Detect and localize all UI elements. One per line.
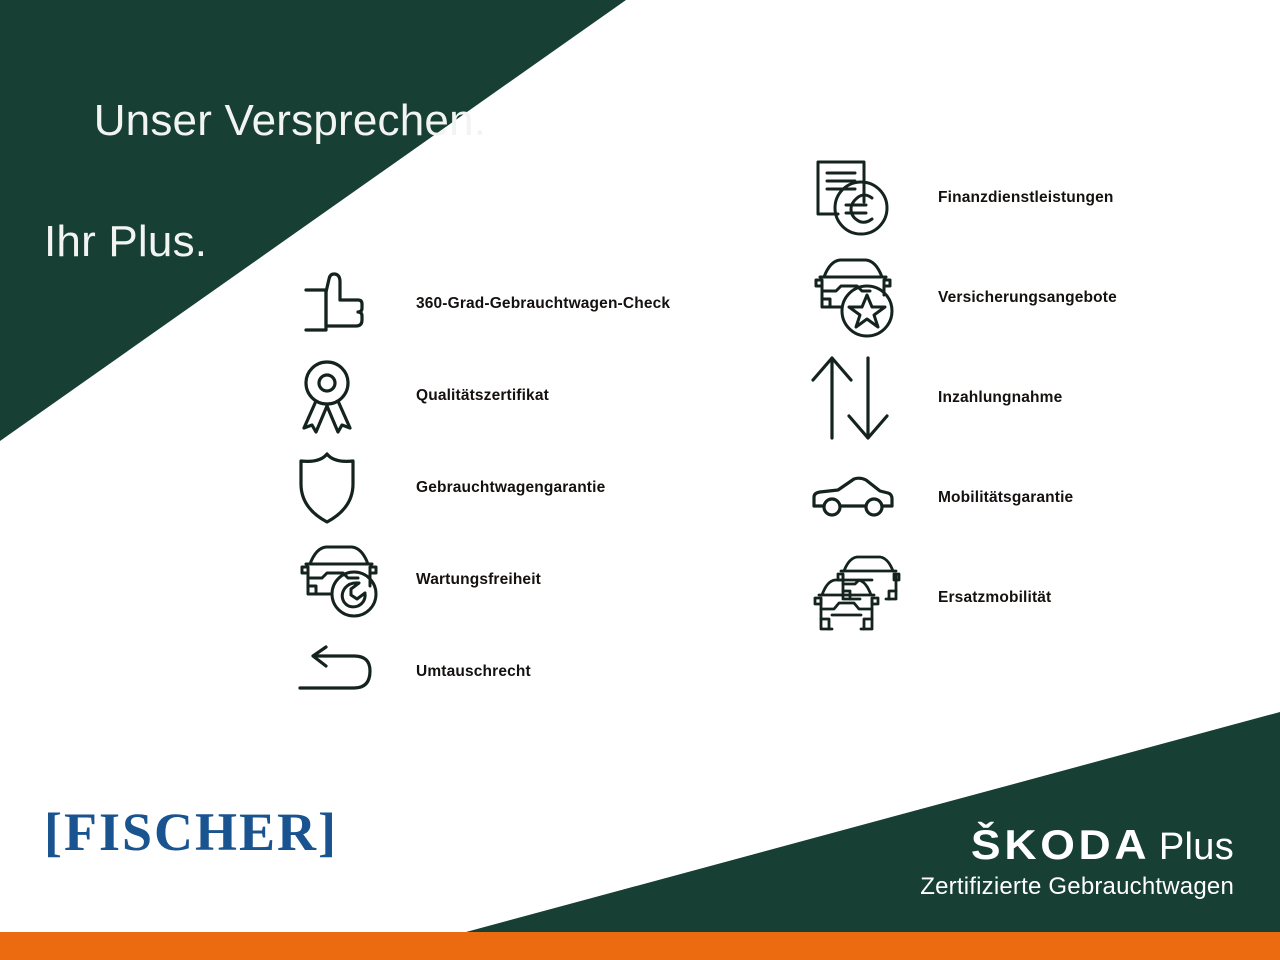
skoda-wordmark: ŠKODA <box>971 824 1150 866</box>
feature-label: Qualitätszertifikat <box>416 387 549 405</box>
feature-item: Qualitätszertifikat <box>296 350 766 442</box>
up-down-arrows-icon <box>810 352 920 444</box>
feature-label: Wartungsfreiheit <box>416 571 541 589</box>
feature-item: Gebrauchtwagengarantie <box>296 442 766 534</box>
feature-item: Wartungsfreiheit <box>296 534 766 626</box>
skoda-tagline: Zertifizierte Gebrauchtwagen <box>920 873 1234 901</box>
feature-item: Umtauschrecht <box>296 626 766 718</box>
orange-accent-bar <box>0 932 1280 960</box>
feature-label: Finanzdienstleistungen <box>938 189 1114 207</box>
headline-line-1: Unser Versprechen. <box>94 96 486 145</box>
feature-label: Gebrauchtwagengarantie <box>416 479 605 497</box>
feature-list-right: Finanzdienstleistungen <box>810 148 1230 648</box>
feature-label: 360-Grad-Gebrauchtwagen-Check <box>416 295 670 313</box>
feature-label: Inzahlungnahme <box>938 389 1062 407</box>
award-ribbon-icon <box>296 354 392 438</box>
dealer-logo: [FISCHER] <box>44 805 338 859</box>
feature-label: Versicherungsangebote <box>938 289 1117 307</box>
document-euro-icon <box>810 152 920 244</box>
feature-item: Mobilitätsgarantie <box>810 448 1230 548</box>
return-arrow-icon <box>296 630 392 714</box>
feature-label: Ersatzmobilität <box>938 589 1051 607</box>
car-star-icon <box>810 252 920 344</box>
skoda-plus-suffix: Plus <box>1159 828 1234 866</box>
feature-item: Versicherungsangebote <box>810 248 1230 348</box>
feature-label: Mobilitätsgarantie <box>938 489 1073 507</box>
promo-banner: Unser Versprechen. Ihr Plus. 360-Grad-Ge… <box>0 0 1280 960</box>
car-wrench-icon <box>296 538 392 622</box>
feature-item: Inzahlungnahme <box>810 348 1230 448</box>
skoda-logo-row: ŠKODA Plus <box>920 824 1234 866</box>
feature-item: Finanzdienstleistungen <box>810 148 1230 248</box>
shield-icon <box>296 446 392 530</box>
feature-item: 360-Grad-Gebrauchtwagen-Check <box>296 258 766 350</box>
thumbs-up-icon <box>296 262 392 346</box>
car-side-icon <box>810 452 920 544</box>
skoda-plus-logo: ŠKODA Plus Zertifizierte Gebrauchtwagen <box>920 824 1234 901</box>
two-cars-icon <box>810 552 920 644</box>
feature-list-left: 360-Grad-Gebrauchtwagen-Check Qualitätsz… <box>296 258 766 718</box>
feature-item: Ersatzmobilität <box>810 548 1230 648</box>
feature-label: Umtauschrecht <box>416 663 531 681</box>
